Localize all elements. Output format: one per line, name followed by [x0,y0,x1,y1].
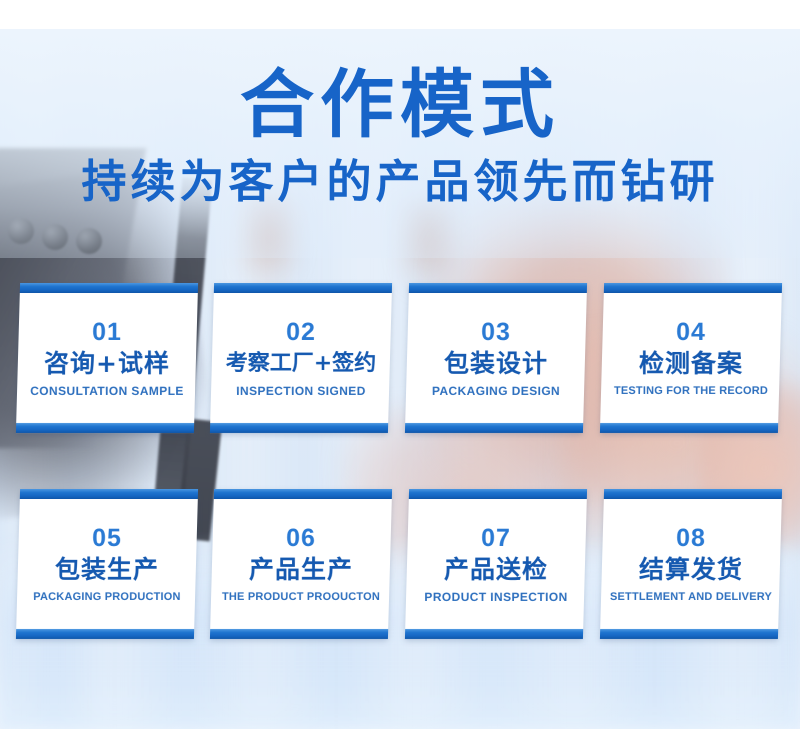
step-card-06-title-cn: 产品生产 [216,553,386,587]
step-card-02-content: 02 考察工厂+签约 INSPECTION SIGNED [212,317,390,399]
step-card-07-top-bar [409,489,587,499]
step-card-05[interactable]: 05 包装生产 PACKAGING PRODUCTION [16,489,198,639]
step-card-07-bottom-bar [405,629,583,639]
step-card-06[interactable]: 06 产品生产 THE PRODUCT PROOUCTON [210,489,392,639]
step-card-05-top-bar [20,489,198,499]
step-card-06-top-bar [214,489,392,499]
step-card-07[interactable]: 07 产品送检 PRODUCT INSPECTION [405,489,587,639]
step-card-04-top-bar [604,283,782,293]
step-card-08[interactable]: 08 结算发货 SETTLEMENT AND DELIVERY [600,489,782,639]
step-card-08-body: 08 结算发货 SETTLEMENT AND DELIVERY [600,489,782,639]
step-card-05-title-cn: 包装生产 [22,553,192,587]
step-card-02-top-bar [214,283,392,293]
step-card-08-title-en: SETTLEMENT AND DELIVERY [606,590,776,605]
step-card-04-title-en: TESTING FOR THE RECORD [606,384,776,399]
step-card-07-title-cn: 产品送检 [411,553,581,587]
step-card-06-title-en: THE PRODUCT PROOUCTON [216,590,386,605]
step-card-01-body: 01 咨询+试样 CONSULTATION SAMPLE [16,283,198,433]
step-card-01-bottom-bar [16,423,194,433]
step-card-04[interactable]: 04 检测备案 TESTING FOR THE RECORD [600,283,782,433]
step-card-08-number: 08 [606,523,776,553]
step-card-02-number: 02 [216,317,386,347]
step-card-03-title-en: PACKAGING DESIGN [411,384,581,399]
step-card-02-body: 02 考察工厂+签约 INSPECTION SIGNED [210,283,392,433]
step-card-04-number: 04 [606,317,776,347]
step-card-01[interactable]: 01 咨询+试样 CONSULTATION SAMPLE [16,283,198,433]
step-card-01-top-bar [20,283,198,293]
step-card-04-content: 04 检测备案 TESTING FOR THE RECORD [602,317,780,399]
step-card-03-bottom-bar [405,423,583,433]
step-card-02-title-en: INSPECTION SIGNED [216,384,386,399]
step-card-01-number: 01 [22,317,192,347]
step-card-01-content: 01 咨询+试样 CONSULTATION SAMPLE [18,317,196,399]
step-card-08-content: 08 结算发货 SETTLEMENT AND DELIVERY [602,523,780,605]
step-card-05-bottom-bar [16,629,194,639]
step-card-03-title-cn: 包装设计 [411,347,581,381]
step-card-07-number: 07 [411,523,581,553]
step-card-07-content: 07 产品送检 PRODUCT INSPECTION [407,523,585,605]
step-card-01-title-en: CONSULTATION SAMPLE [22,384,192,399]
step-card-04-title-cn: 检测备案 [606,347,776,381]
step-card-01-title-cn: 咨询+试样 [22,347,192,381]
step-card-05-body: 05 包装生产 PACKAGING PRODUCTION [16,489,198,639]
step-card-03-number: 03 [411,317,581,347]
step-card-06-number: 06 [216,523,386,553]
promo-page: 合作模式 持续为客户的产品领先而钻研 01 咨询+试样 CONSULTATION… [0,0,800,729]
step-card-02-title-cn: 考察工厂+签约 [216,347,386,381]
step-card-03-content: 03 包装设计 PACKAGING DESIGN [407,317,585,399]
step-card-02-bottom-bar [210,423,388,433]
step-card-03-top-bar [409,283,587,293]
step-card-06-content: 06 产品生产 THE PRODUCT PROOUCTON [212,523,390,605]
step-card-08-top-bar [604,489,782,499]
step-card-08-title-cn: 结算发货 [606,553,776,587]
step-card-05-title-en: PACKAGING PRODUCTION [22,590,192,605]
step-card-05-content: 05 包装生产 PACKAGING PRODUCTION [18,523,196,605]
step-card-08-bottom-bar [600,629,778,639]
step-card-04-body: 04 检测备案 TESTING FOR THE RECORD [600,283,782,433]
process-step-grid: 01 咨询+试样 CONSULTATION SAMPLE 02 考察工厂+签约 … [0,0,800,729]
step-card-07-body: 07 产品送检 PRODUCT INSPECTION [405,489,587,639]
step-card-06-body: 06 产品生产 THE PRODUCT PROOUCTON [210,489,392,639]
step-card-07-title-en: PRODUCT INSPECTION [411,590,581,605]
step-card-03[interactable]: 03 包装设计 PACKAGING DESIGN [405,283,587,433]
step-card-02[interactable]: 02 考察工厂+签约 INSPECTION SIGNED [210,283,392,433]
step-card-04-bottom-bar [600,423,778,433]
step-card-03-body: 03 包装设计 PACKAGING DESIGN [405,283,587,433]
step-card-06-bottom-bar [210,629,388,639]
step-card-05-number: 05 [22,523,192,553]
